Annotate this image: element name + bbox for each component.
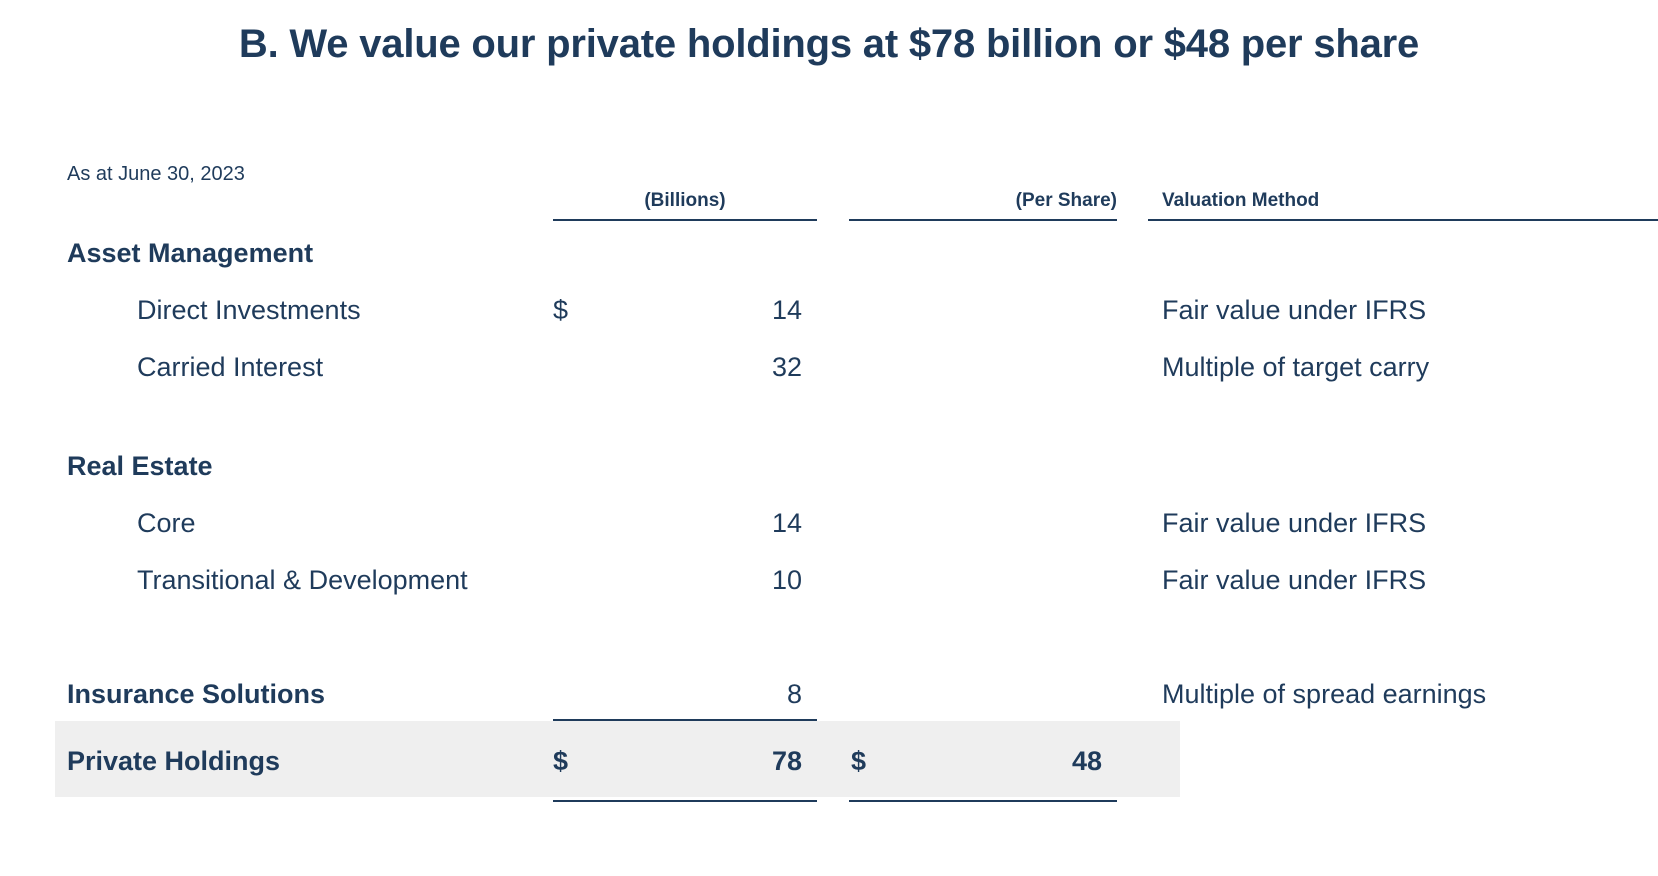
row-label-carried-interest: Carried Interest bbox=[137, 338, 537, 396]
table-row: Direct Investments $ 14 Fair value under… bbox=[0, 281, 1658, 339]
total-rule-per-share bbox=[849, 800, 1117, 802]
column-header-billions: (Billions) bbox=[553, 188, 817, 214]
row-label-insurance-solutions: Insurance Solutions bbox=[67, 665, 537, 723]
total-value-billions: 78 bbox=[553, 732, 802, 790]
row-label-transitional-development: Transitional & Development bbox=[137, 551, 537, 609]
row-value-billions: 14 bbox=[553, 494, 802, 552]
column-header-valuation-method: Valuation Method bbox=[1162, 188, 1658, 214]
row-valuation-method: Fair value under IFRS bbox=[1162, 551, 1658, 609]
row-valuation-method: Fair value under IFRS bbox=[1162, 494, 1658, 552]
row-value-billions: 32 bbox=[553, 338, 802, 396]
row-label-core: Core bbox=[137, 494, 537, 552]
row-label-private-holdings: Private Holdings bbox=[67, 732, 537, 790]
total-value-per-share: 48 bbox=[851, 732, 1102, 790]
row-value-billions: 8 bbox=[553, 665, 802, 723]
table-row: Carried Interest 32 Multiple of target c… bbox=[0, 338, 1658, 396]
section-header-row: Asset Management bbox=[0, 224, 1658, 282]
section-header-row: Real Estate bbox=[0, 437, 1658, 495]
row-valuation-method: Fair value under IFRS bbox=[1162, 281, 1658, 339]
as-at-date: As at June 30, 2023 bbox=[67, 160, 245, 188]
table-row-insurance-solutions: Insurance Solutions 8 Multiple of spread… bbox=[0, 665, 1658, 723]
row-valuation-method: Multiple of target carry bbox=[1162, 338, 1658, 396]
row-valuation-method: Multiple of spread earnings bbox=[1162, 665, 1658, 723]
header-rule-per-share bbox=[849, 219, 1117, 221]
header-rule-valuation-method bbox=[1148, 219, 1658, 221]
table-row: Transitional & Development 10 Fair value… bbox=[0, 551, 1658, 609]
section-title-asset-management: Asset Management bbox=[67, 224, 537, 282]
table-row: Core 14 Fair value under IFRS bbox=[0, 494, 1658, 552]
header-rule-billions bbox=[553, 219, 817, 221]
section-title-real-estate: Real Estate bbox=[67, 437, 537, 495]
row-value-billions: 10 bbox=[553, 551, 802, 609]
table-row-total: Private Holdings $ 78 $ 48 bbox=[0, 732, 1658, 790]
valuation-table: As at June 30, 2023 (Billions) (Per Shar… bbox=[0, 0, 1658, 876]
column-header-per-share: (Per Share) bbox=[849, 188, 1117, 214]
row-label-direct-investments: Direct Investments bbox=[137, 281, 537, 339]
row-value-billions: 14 bbox=[553, 281, 802, 339]
total-rule-billions bbox=[553, 800, 817, 802]
